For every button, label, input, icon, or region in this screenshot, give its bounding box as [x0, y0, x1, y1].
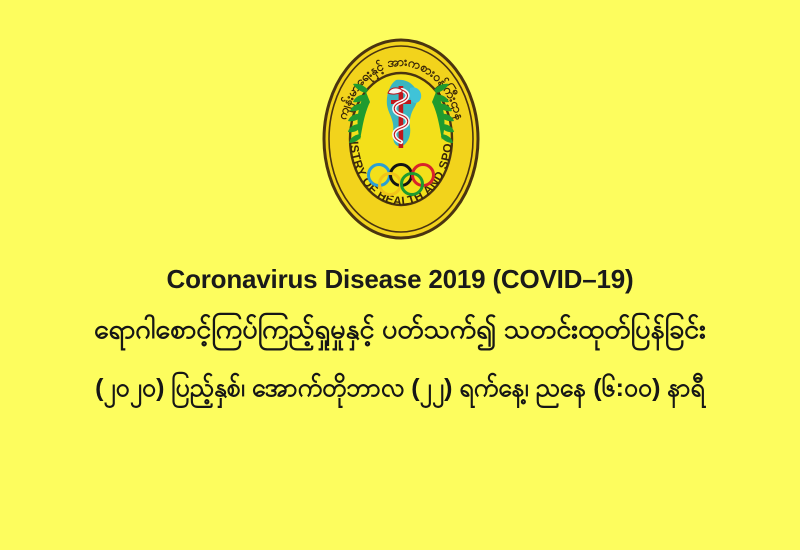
- page-subtitle-burmese: ရောဂါစောင့်ကြပ်ကြည့်ရှုမှုနှင့် ပတ်သက်၍ …: [0, 306, 800, 352]
- covid-press-release-poster: ကျန်းမာရေးနှင့် အားကစားဝန်ကြီးဌာန MINIST…: [0, 0, 800, 550]
- ministry-seal-emblem: ကျန်းမာရေးနှင့် အားကစားဝန်ကြီးဌာန MINIST…: [322, 38, 480, 240]
- headline-text-block: Coronavirus Disease 2019 (COVID–19) ရောဂ…: [0, 262, 800, 410]
- release-datetime-burmese: (၂၀၂၀) ပြည့်နှစ်၊ အောက်တိုဘာလ (၂၂) ရက်နေ…: [0, 366, 800, 410]
- page-title-english: Coronavirus Disease 2019 (COVID–19): [0, 262, 800, 296]
